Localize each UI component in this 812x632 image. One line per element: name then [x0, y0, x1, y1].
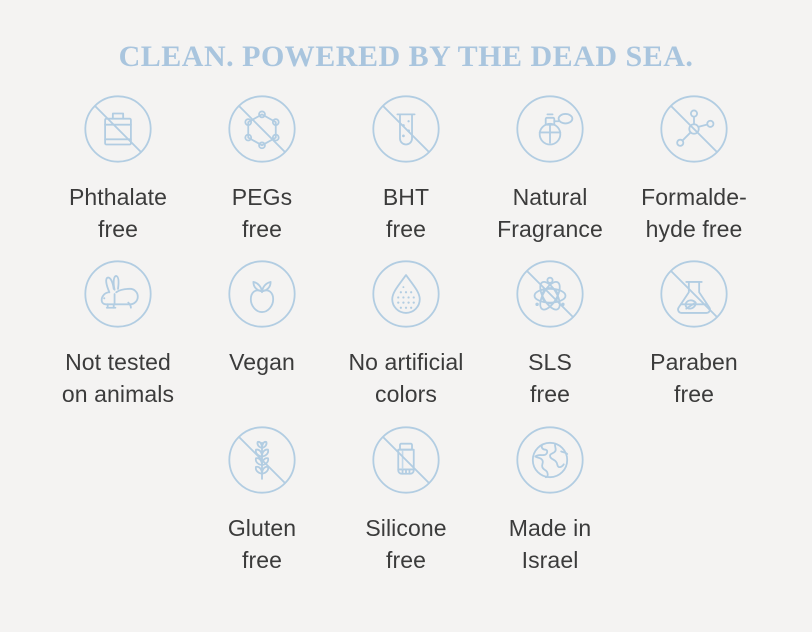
- badge-row: Gluten freeSilicone freeMade in Israel: [16, 417, 796, 576]
- claim-badge: Natural Fragrance: [478, 86, 622, 245]
- test-tube-crossed-out-icon: [363, 86, 449, 172]
- apple-leaf-icon: [219, 251, 305, 337]
- flask-leaf-crossed-out-icon: [651, 251, 737, 337]
- canister-crossed-out-icon: [75, 86, 161, 172]
- claim-badge-label: Phthalate free: [69, 182, 167, 245]
- formaldehyde-molecule-crossed-out-icon: [651, 86, 737, 172]
- claim-badge: SLS free: [478, 251, 622, 410]
- claim-badge-label: Formalde- hyde free: [641, 182, 747, 245]
- claim-badge: Made in Israel: [478, 417, 622, 576]
- peg-molecule-crossed-out-icon: [219, 86, 305, 172]
- claim-badge: Not tested on animals: [46, 251, 190, 410]
- wheat-crossed-out-icon: [219, 417, 305, 503]
- claim-badge: PEGs free: [190, 86, 334, 245]
- claim-badge-label: Natural Fragrance: [497, 182, 603, 245]
- claim-badge-label: Vegan: [229, 347, 295, 379]
- claim-badge: Phthalate free: [46, 86, 190, 245]
- atom-crossed-out-icon: [507, 251, 593, 337]
- claim-badge-label: Made in Israel: [509, 513, 592, 576]
- claim-badge: Gluten free: [190, 417, 334, 576]
- cosmetic-tube-crossed-out-icon: [363, 417, 449, 503]
- claim-badge-label: Paraben free: [650, 347, 738, 410]
- page-title: CLEAN. POWERED BY THE DEAD SEA.: [0, 0, 812, 72]
- claim-badge: Silicone free: [334, 417, 478, 576]
- claim-badge: No artificial colors: [334, 251, 478, 410]
- claim-badge-label: BHT free: [383, 182, 429, 245]
- globe-icon: [507, 417, 593, 503]
- claim-badge-label: PEGs free: [232, 182, 292, 245]
- clean-claims-panel: CLEAN. POWERED BY THE DEAD SEA. Phthalat…: [0, 0, 812, 632]
- badge-grid: Phthalate freePEGs freeBHT freeNatural F…: [0, 86, 812, 576]
- claim-badge-label: Not tested on animals: [62, 347, 174, 410]
- claim-badge-label: No artificial colors: [348, 347, 463, 410]
- claim-badge: Vegan: [190, 251, 334, 379]
- claim-badge: BHT free: [334, 86, 478, 245]
- rabbit-icon: [75, 251, 161, 337]
- claim-badge-label: SLS free: [528, 347, 572, 410]
- perfume-bottle-icon: [507, 86, 593, 172]
- water-droplet-icon: [363, 251, 449, 337]
- badge-row: Phthalate freePEGs freeBHT freeNatural F…: [16, 86, 796, 245]
- claim-badge-label: Silicone free: [365, 513, 446, 576]
- claim-badge: Paraben free: [622, 251, 766, 410]
- claim-badge: Formalde- hyde free: [622, 86, 766, 245]
- claim-badge-label: Gluten free: [228, 513, 296, 576]
- badge-row: Not tested on animalsVeganNo artificial …: [16, 251, 796, 410]
